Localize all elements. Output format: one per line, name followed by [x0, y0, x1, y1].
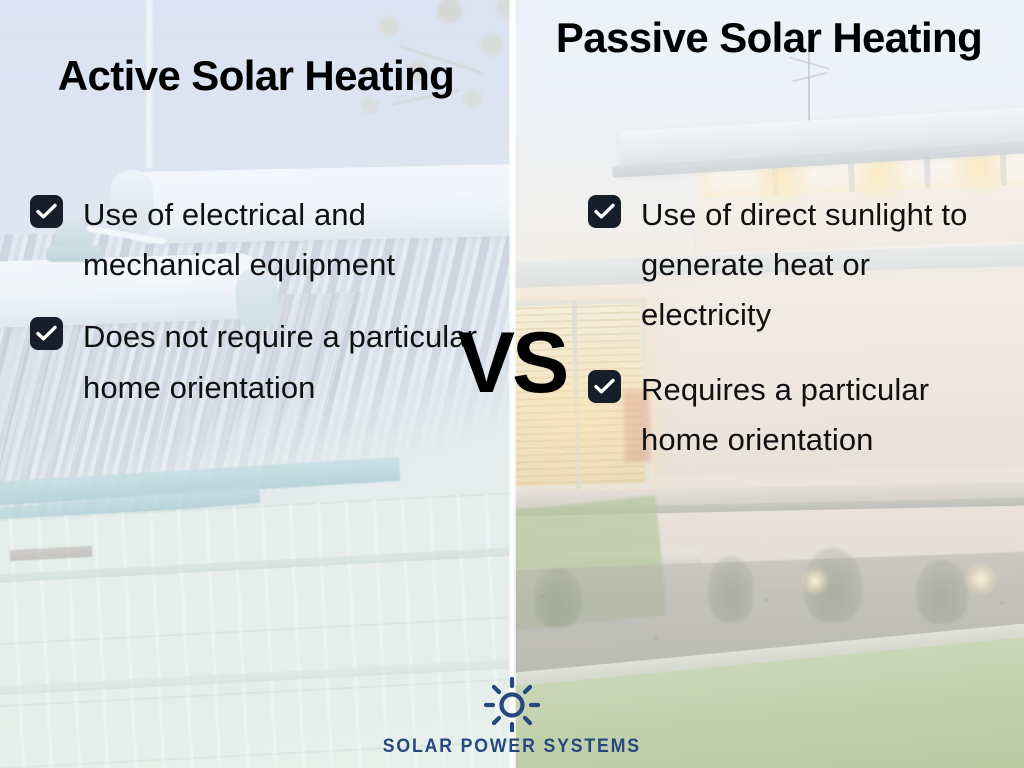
- list-item-label: Use of electrical and mechanical equipme…: [83, 190, 498, 290]
- right-feature-list: Use of direct sunlight to generate heat …: [588, 190, 1008, 489]
- versus-label: VS: [428, 320, 596, 406]
- solar-heating-comparison-infographic: Active Solar Heating Passive Solar Heati…: [0, 0, 1024, 768]
- left-panel-title: Active Solar Heating: [10, 54, 502, 98]
- checkbox-checked-icon: [30, 195, 63, 228]
- brand-name: SOLAR POWER SYSTEMS: [383, 736, 641, 758]
- brand-logo: SOLAR POWER SYSTEMS: [0, 676, 1024, 758]
- sun-icon: [483, 676, 541, 732]
- list-item: Use of electrical and mechanical equipme…: [30, 190, 498, 290]
- list-item-label: Requires a particular home orientation: [641, 365, 1008, 465]
- checkbox-checked-icon: [30, 317, 63, 350]
- right-panel-title: Passive Solar Heating: [530, 16, 1008, 60]
- list-item: Requires a particular home orientation: [588, 365, 1008, 465]
- checkbox-checked-icon: [588, 195, 621, 228]
- list-item-label: Use of direct sunlight to generate heat …: [641, 190, 1008, 341]
- list-item: Use of direct sunlight to generate heat …: [588, 190, 1008, 341]
